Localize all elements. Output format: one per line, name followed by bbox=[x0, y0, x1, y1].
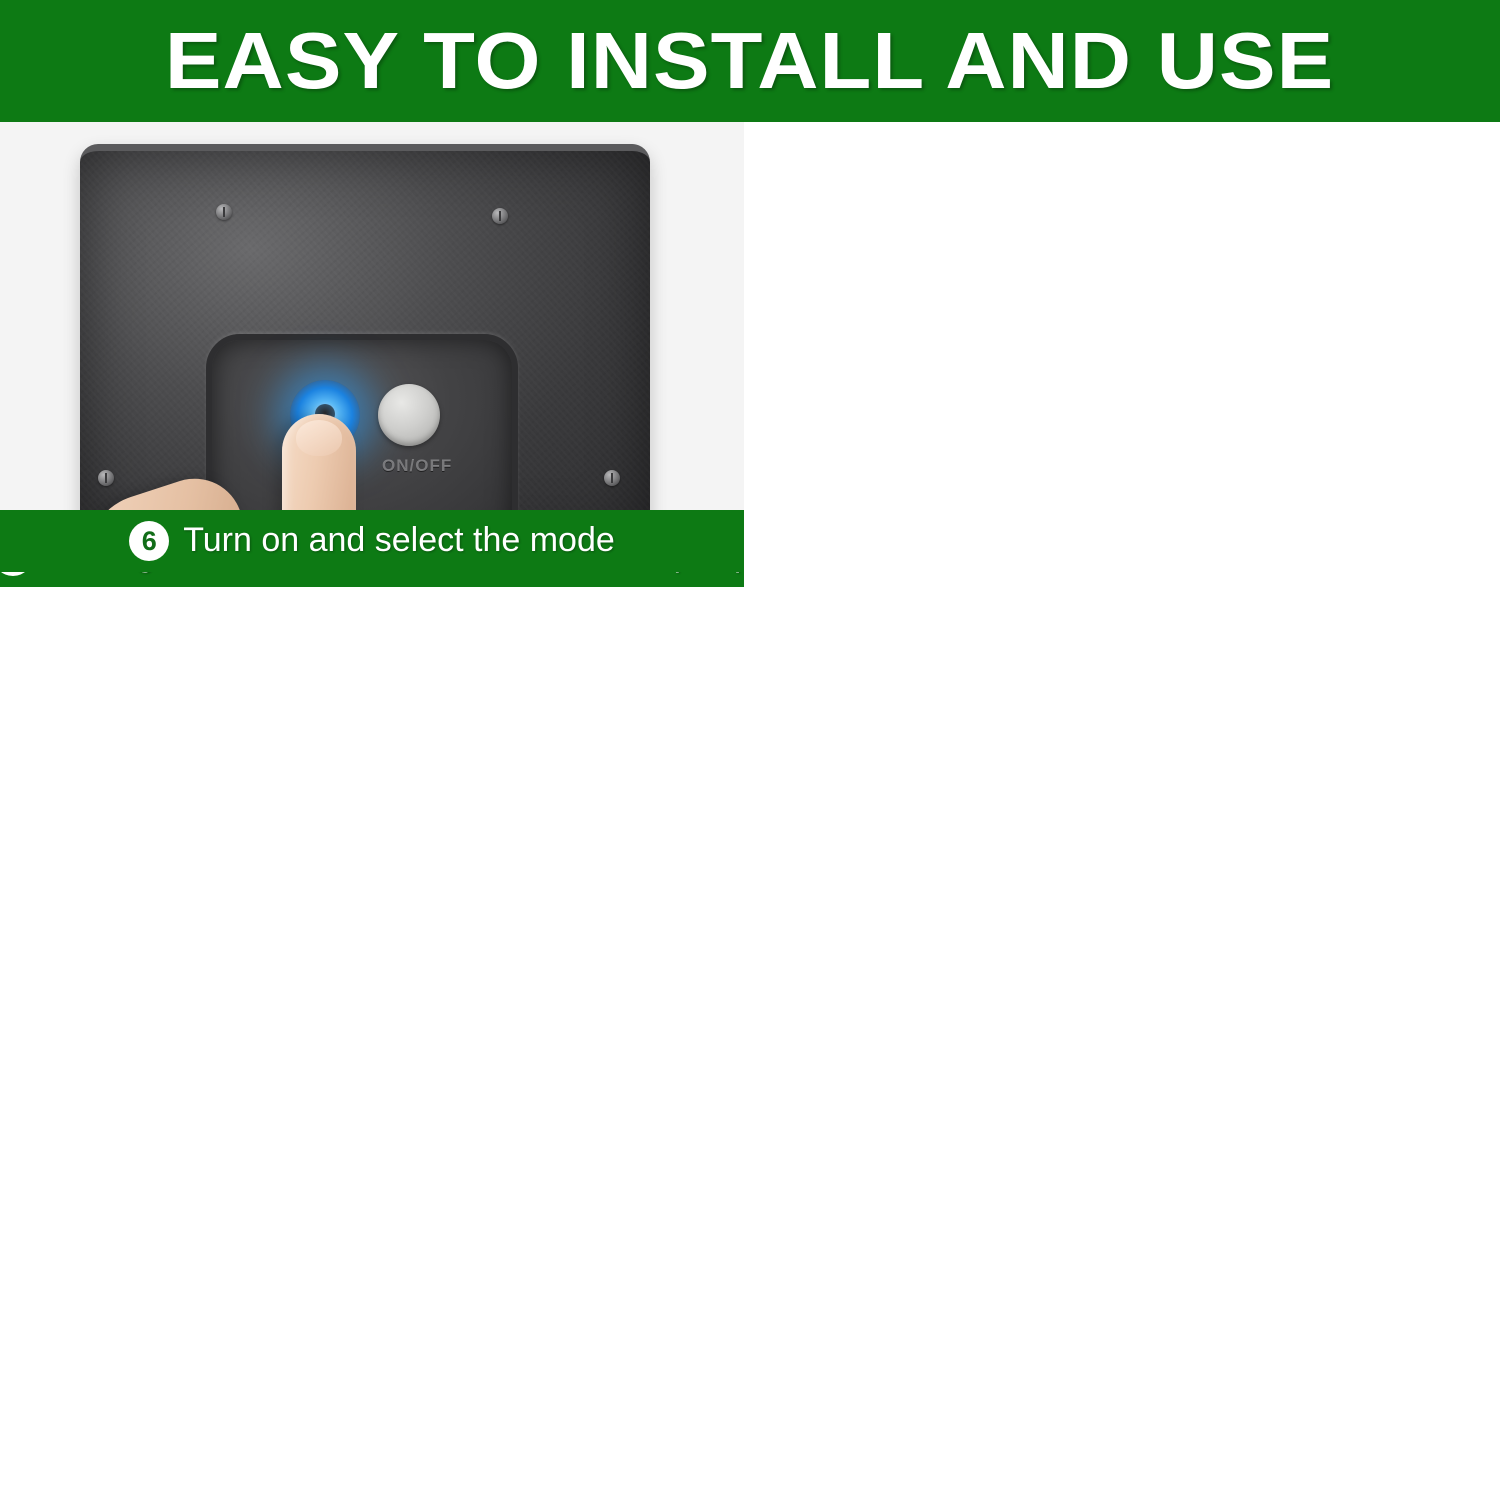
on-off-label: ON/OFF bbox=[382, 456, 452, 476]
mounting-screw bbox=[98, 470, 114, 486]
step-6-panel: ON/OFF 6 Turn on and select the mode bbox=[0, 122, 744, 572]
fingernail bbox=[296, 420, 342, 456]
page-title: EASY TO INSTALL AND USE bbox=[165, 21, 1334, 101]
steps-grid: 1 Cut the tube as needed bbox=[0, 122, 1500, 1500]
on-off-button[interactable] bbox=[378, 384, 440, 446]
mounting-screw bbox=[604, 470, 620, 486]
mounting-screw bbox=[492, 208, 508, 224]
step-6-caption: 6 Turn on and select the mode bbox=[0, 510, 744, 572]
step-caption-text: Turn on and select the mode bbox=[183, 521, 615, 560]
step-number-badge: 6 bbox=[129, 521, 169, 561]
header-banner: EASY TO INSTALL AND USE bbox=[0, 0, 1500, 122]
infographic-sheet: EASY TO INSTALL AND USE bbox=[0, 0, 1500, 1500]
step-6-image: ON/OFF bbox=[0, 122, 744, 572]
mounting-screw bbox=[216, 204, 232, 220]
